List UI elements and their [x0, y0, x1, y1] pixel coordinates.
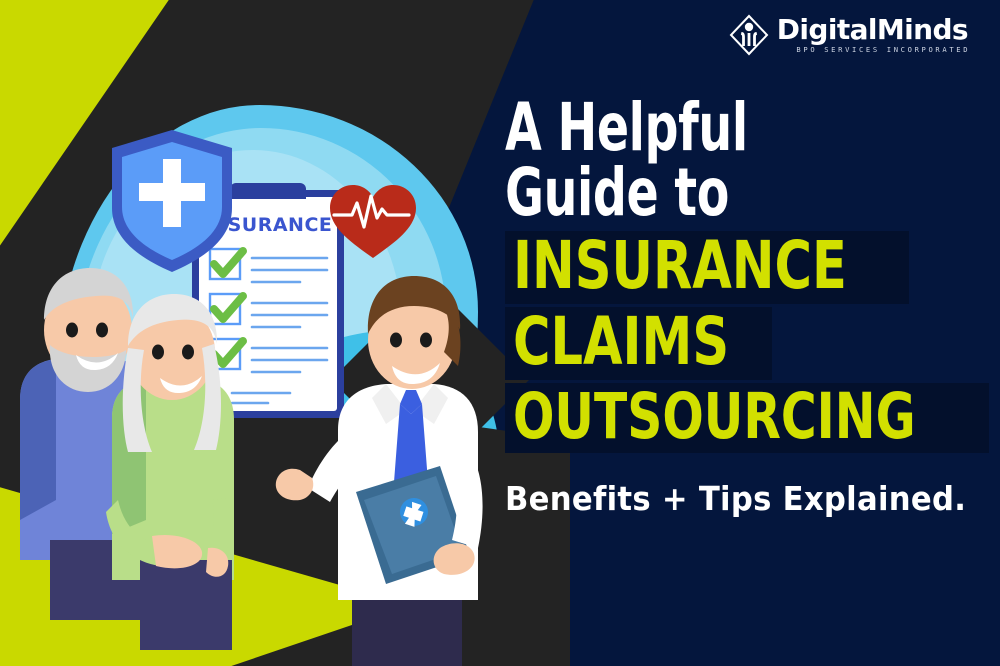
logo-tagline: BPO SERVICES INCORPORATED [775, 47, 970, 54]
highlight-text-insurance: INSURANCE [513, 233, 847, 299]
insurance-guide-banner: INSURANCE [0, 0, 1000, 666]
insurance-illustration: INSURANCE [0, 0, 500, 666]
headline-line-1: A Helpful [505, 96, 885, 161]
logo-text-block: DigitalMinds BPO SERVICES INCORPORATED [777, 16, 968, 54]
highlight-row-1: INSURANCE [505, 231, 909, 304]
diamond-pillars-logo-icon [729, 14, 769, 56]
highlight-block: INSURANCE CLAIMS OUTSOURCING [505, 231, 980, 453]
brand-logo[interactable]: DigitalMinds BPO SERVICES INCORPORATED [729, 14, 968, 56]
highlight-text-outsourcing: OUTSOURCING [513, 385, 916, 448]
logo-wordmark: DigitalMinds [777, 16, 968, 44]
headline-block: A Helpful Guide to INSURANCE CLAIMS OUTS… [505, 96, 980, 518]
highlight-row-3: OUTSOURCING [505, 383, 989, 453]
headline-line-2: Guide to [505, 161, 885, 226]
highlight-row-2: CLAIMS [505, 307, 772, 380]
checkbox-checked-icon [210, 294, 243, 324]
highlight-text-claims: CLAIMS [513, 309, 729, 375]
checkbox-checked-icon [210, 249, 243, 279]
headline-subtitle: Benefits + Tips Explained. [505, 479, 947, 518]
